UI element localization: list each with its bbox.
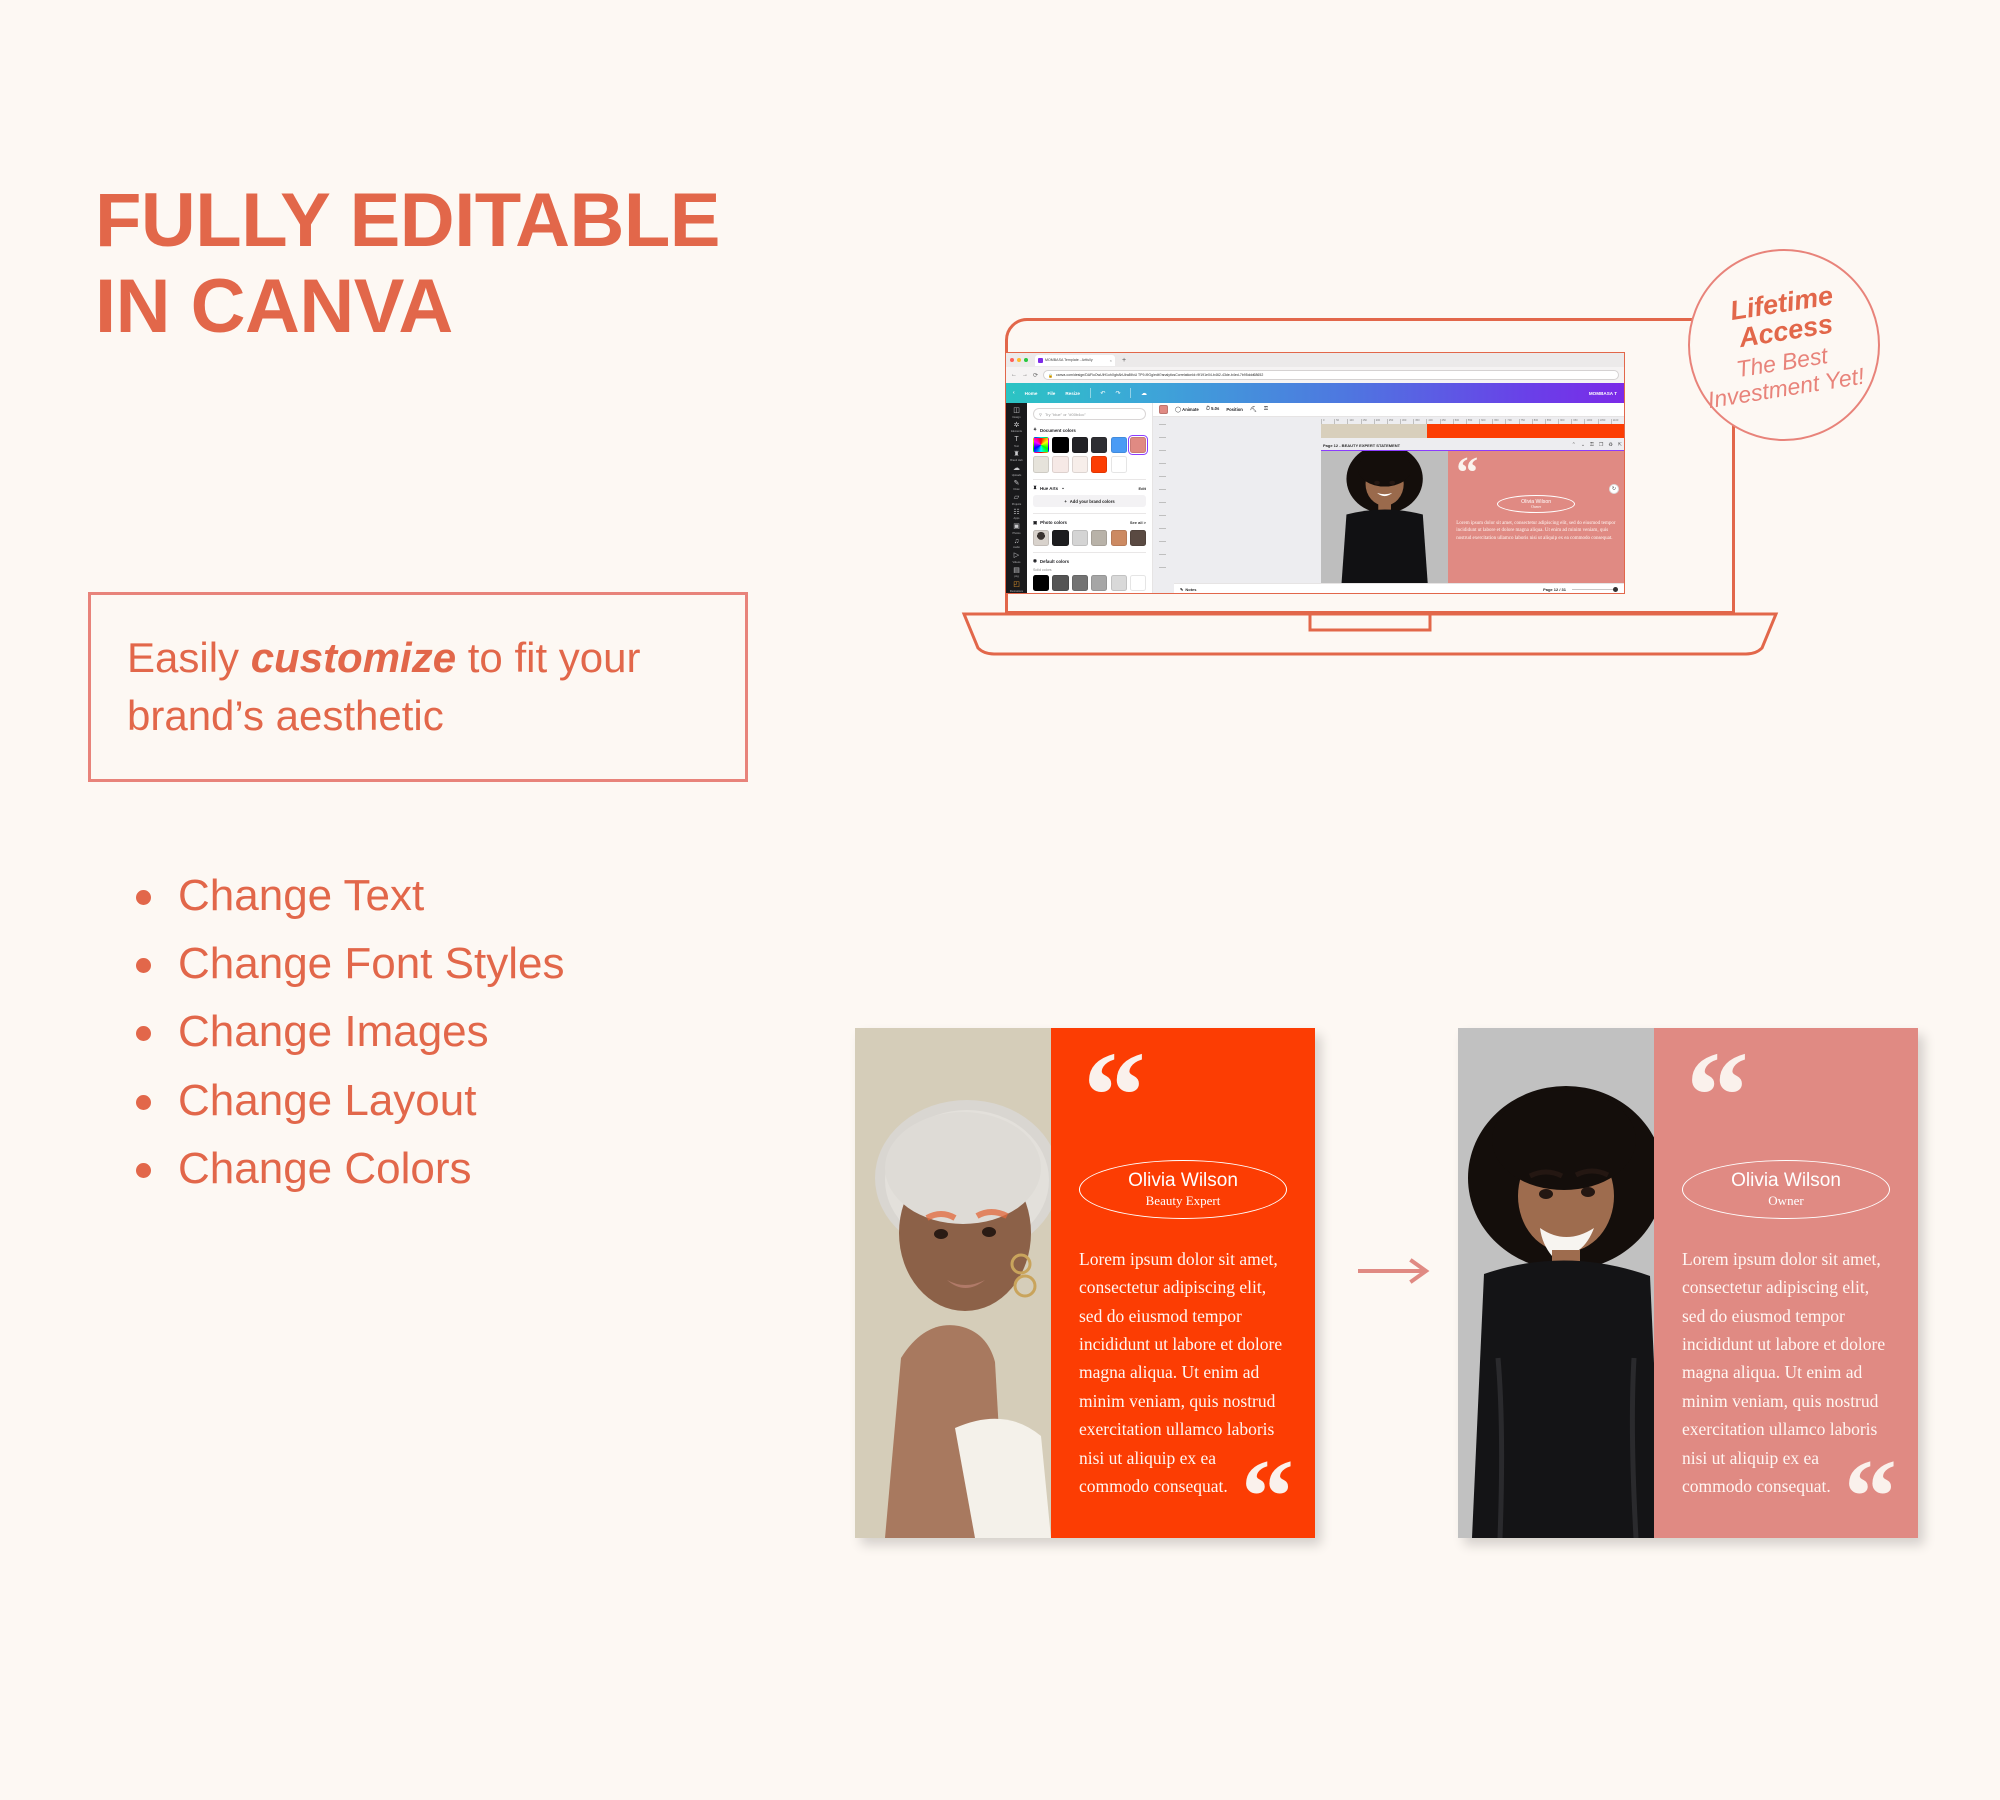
card-quote-after: “ Olivia Wilson Owner Lorem ipsum dolor … [1654,1028,1918,1538]
photo-thumbnail-swatch[interactable] [1033,530,1049,546]
new-tab-icon[interactable]: + [1122,357,1126,364]
vertical-ruler [1159,424,1166,594]
zoom-slider[interactable] [1572,589,1618,590]
color-swatch[interactable] [1111,456,1127,472]
clock-icon: ⏱ [1206,406,1210,412]
traffic-light-maximize-icon[interactable] [1024,358,1028,362]
color-swatch[interactable] [1111,530,1127,546]
sidebar-item-label: Text [1014,445,1019,448]
sidebar-item-illustrations[interactable]: ◰ Illustrations [1006,581,1027,593]
list-item: Change Layout [130,1067,564,1135]
divider [1033,552,1146,553]
page-count-label: Page 12 / 31 [1543,587,1566,592]
slide-quote-panel: “ Olivia Wilson Owner Lorem ipsum dolor … [1448,451,1624,594]
back-chevron-icon[interactable]: ‹ [1013,390,1015,396]
list-item: Change Text [130,862,564,930]
callout-text: Easily customize to fit your brand’s aes… [91,629,745,745]
default-colors-label: Default colors [1040,559,1069,564]
callout-box: Easily customize to fit your brand’s aes… [88,592,748,782]
color-swatch[interactable] [1072,575,1088,591]
notes-icon: ✎ [1180,587,1183,592]
ruler-tick [1159,437,1166,450]
ruler-tick [1159,502,1166,515]
horizontal-ruler: 0 50 100 150 200 250 300 350 400 450 500… [1321,417,1624,424]
author-name: Olivia Wilson [1683,1170,1889,1192]
sidebar-item-label: png [1014,575,1018,578]
author-badge: Olivia Wilson Owner [1497,495,1575,513]
card-photo-after [1458,1028,1654,1538]
color-swatch[interactable] [1130,575,1146,591]
ruler-tick [1159,424,1166,437]
sidebar-item-png[interactable]: ▤ png [1006,567,1027,579]
divider [1130,388,1131,398]
color-swatch-selected[interactable] [1130,437,1146,453]
sidebar-item-draw[interactable]: ✎ Draw [1006,480,1027,492]
color-swatch[interactable] [1052,530,1068,546]
animate-icon: ◯ [1175,407,1181,413]
solid-colors-label: Solid colors [1033,568,1146,572]
slide-canvas: FULLY EDITABLE IN CANVA Easily customize… [0,0,2000,1800]
brand-kit-label: Hue Arts [1040,486,1058,491]
sidebar-item-brand-hub[interactable]: ♜ Brand Hub [1006,451,1027,463]
canva-topbar: ‹ Home File Resize ↶ ↷ ☁ MOMBASA T [1006,383,1624,403]
move-down-icon[interactable]: ⌄ [1581,442,1585,448]
position-button[interactable]: Position [1226,407,1243,412]
testimonial-card-after: “ Olivia Wilson Owner Lorem ipsum dolor … [1458,1028,1918,1538]
divider [1033,479,1146,480]
colors-panel: ⚲ Try "blue" or "#00b4cc" ⚘ Document col… [1027,403,1153,594]
browser-tab[interactable]: MOMBASA Template - Artfully × [1035,355,1115,366]
lock-icon[interactable]: ⚿ [1590,442,1594,448]
ruler-tick [1159,541,1166,554]
search-placeholder: Try "blue" or "#00b4cc" [1045,412,1086,417]
portrait-young-woman [1458,1028,1654,1538]
browser-address-bar: ← → ⟳ 🔒 canva.com/design/DAFloOwUiH1ohXg… [1006,367,1624,383]
folder-icon: ▱ [1014,494,1019,502]
notes-button[interactable]: Notes [1185,587,1196,592]
url-text: canva.com/design/DAFloOwUiH1ohXgbAhUlra8… [1056,373,1263,377]
callout-emphasis: customize [251,634,456,681]
canva-statusbar: ✎ Notes Page 12 / 31 [1174,583,1624,594]
duration-button[interactable]: ⏱ 5.0s [1206,406,1220,413]
reload-icon[interactable]: ⟳ [1033,372,1038,379]
photo-colors-header: ▣ Photo colors See all > [1033,520,1146,526]
document-colors-swatches [1033,437,1146,473]
url-input[interactable]: 🔒 canva.com/design/DAFloOwUiH1ohXgbAhUlr… [1043,370,1619,380]
author-name: Olivia Wilson [1080,1170,1286,1192]
file-menu[interactable]: File [1047,391,1055,396]
layout-icon: ◫ [1013,407,1020,415]
portrait-older-woman [855,1028,1051,1538]
duplicate-icon[interactable]: ❐ [1599,442,1603,448]
apps-icon: ☷ [1013,509,1019,517]
previous-page-thumbnail[interactable] [1321,424,1624,438]
author-badge: Olivia Wilson Beauty Expert [1079,1160,1287,1219]
color-swatch[interactable] [1033,456,1049,472]
arrow-right-icon [1358,1258,1438,1284]
callout-before: Easily [127,634,251,681]
color-picker-swatch[interactable] [1033,437,1049,453]
color-swatch[interactable] [1052,456,1068,472]
undo-icon[interactable]: ↶ [1100,390,1105,397]
feature-list: Change Text Change Font Styles Change Im… [130,862,564,1203]
ruler-tick [1159,476,1166,489]
sidebar-item-label: Elements [1011,430,1022,433]
edit-button[interactable]: Edit [1138,486,1146,491]
animate-button[interactable]: ◯ Animate [1175,407,1199,413]
fill-color-button[interactable] [1159,405,1168,414]
page-scroll-strip[interactable]: Page 12 - BEAUTY EXPERT STATEMENT ⌃ ⌄ ⚿ … [1321,424,1624,594]
badge-subtitle: The Best Investment Yet! [1702,338,1866,414]
palette-icon: ⚘ [1033,427,1037,433]
ruler-tick [1159,554,1166,567]
quote-mark-bottom-icon: “ [1241,1464,1289,1530]
close-icon[interactable]: × [1110,358,1112,363]
quote-mark-icon: “ [1083,1058,1287,1136]
traffic-light-close-icon[interactable] [1010,358,1014,362]
sidebar-item-label: Illustrations [1010,590,1023,593]
move-up-icon[interactable]: ⌃ [1572,442,1576,448]
headline-line-2: IN CANVA [95,264,720,350]
document-name[interactable]: MOMBASA T [1589,391,1617,396]
color-swatch[interactable] [1091,437,1107,453]
sidebar-item-label: Photos [1012,532,1020,535]
sidebar-item-label: Audio [1013,546,1020,549]
sidebar-item-photos[interactable]: ▣ Photos [1006,523,1027,535]
sidebar-item-label: Apps [1014,517,1020,520]
chevron-down-icon[interactable]: ⌄ [1061,485,1065,491]
author-role: Owner [1498,505,1574,509]
sidebar-item-videos[interactable]: ▷ Videos [1006,552,1027,564]
add-brand-colors-button[interactable]: + Add your brand colors [1033,495,1146,507]
draw-icon: ✎ [1014,480,1020,488]
forward-icon[interactable]: → [1022,372,1028,378]
quote-mark-icon: “ [1686,1058,1890,1136]
document-colors-label: Document colors [1040,428,1076,433]
ruler-tick [1159,463,1166,476]
divider [1033,513,1146,514]
color-swatch[interactable] [1033,575,1049,591]
browser-tab-strip: MOMBASA Template - Artfully × + [1006,353,1624,367]
canva-canvas-area: ◯ Animate ⏱ 5.0s Position ⛏ ⚿ 0 50 100 1… [1153,403,1624,594]
headline-line-1: FULLY EDITABLE [95,178,720,264]
color-swatch[interactable] [1072,437,1088,453]
resize-button[interactable]: Resize [1065,391,1080,396]
canva-workspace: ◫ Design ✲ Elements T Text ♜ Brand Hub ☁ [1006,403,1624,594]
color-swatch[interactable] [1072,530,1088,546]
default-colors-icon: ◉ [1033,558,1037,564]
quote-mark-icon: “ [1456,457,1616,489]
sidebar-item-label: Uploads [1012,474,1022,477]
png-icon: ▤ [1013,567,1020,575]
ruler-tick [1159,528,1166,541]
ruler-tick [1159,489,1166,502]
search-input[interactable]: ⚲ Try "blue" or "#00b4cc" [1033,408,1146,420]
color-swatch[interactable] [1072,456,1088,472]
page-12-label: Page 12 - BEAUTY EXPERT STATEMENT [1323,443,1400,448]
sidebar-item-projects[interactable]: ▱ Projects [1006,494,1027,506]
list-item: Change Colors [130,1135,564,1203]
color-swatch[interactable] [1130,530,1146,546]
quote-mark-bottom-icon: “ [1844,1464,1892,1530]
document-colors-header: ⚘ Document colors [1033,427,1146,433]
page-title: FULLY EDITABLE IN CANVA [95,178,720,350]
transition-arrow [1358,1258,1438,1284]
canva-sidebar-rail: ◫ Design ✲ Elements T Text ♜ Brand Hub ☁ [1006,403,1027,594]
laptop-base [950,610,1790,660]
photo-colors-label: Photo colors [1040,520,1067,525]
sidebar-item-text[interactable]: T Text [1006,436,1027,448]
sidebar-item-design[interactable]: ◫ Design [1006,407,1027,419]
delete-icon[interactable]: ♻ [1608,442,1612,448]
default-colors-header: ◉ Default colors [1033,558,1146,564]
upload-icon: ☁ [1013,465,1020,473]
color-swatch[interactable] [1052,575,1068,591]
sidebar-item-label: Design [1012,416,1020,419]
color-swatch[interactable] [1111,575,1127,591]
slide-photo[interactable] [1321,451,1448,594]
ruler-tick [1159,450,1166,463]
refresh-icon[interactable]: ↻ [1609,484,1619,494]
previous-page-accent [1427,424,1624,438]
list-item: Change Images [130,998,564,1066]
list-item: Change Font Styles [130,930,564,998]
laptop-screen: MOMBASA Template - Artfully × + ← → ⟳ 🔒 … [1005,352,1625,594]
color-swatch[interactable] [1091,456,1107,472]
photo-colors-swatches [1033,530,1146,546]
add-brand-colors-label: Add your brand colors [1070,499,1115,504]
solid-colors-swatches [1033,575,1146,594]
page-12-header: Page 12 - BEAUTY EXPERT STATEMENT ⌃ ⌄ ⚿ … [1321,438,1624,451]
card-quote-before: “ Olivia Wilson Beauty Expert Lorem ipsu… [1051,1028,1315,1538]
slide-body-text: Lorem ipsum dolor sit amet, consectetur … [1456,520,1616,543]
plus-icon: + [1064,499,1066,504]
brand-icon: ♜ [1033,485,1037,491]
author-role: Owner [1683,1193,1889,1209]
audio-icon: ♫ [1014,538,1019,546]
elements-icon: ✲ [1014,422,1020,430]
color-swatch[interactable] [1091,530,1107,546]
brand-kit-header: ♜ Hue Arts ⌄ Edit [1033,485,1146,491]
lock-icon: 🔒 [1048,373,1053,378]
laptop-base-shape [950,610,1790,660]
search-icon: ⚲ [1039,412,1042,417]
color-swatch[interactable] [1111,437,1127,453]
sidebar-item-apps[interactable]: ☷ Apps [1006,509,1027,521]
illustration-icon: ◰ [1013,581,1020,589]
photo-icon: ▣ [1013,523,1020,531]
card-photo-before [855,1028,1051,1538]
sidebar-item-label: Brand Hub [1010,459,1022,462]
canva-favicon [1038,358,1043,363]
color-swatch[interactable] [1052,437,1068,453]
page-tools: ⌃ ⌄ ⚿ ❐ ♻ ⇱ [1572,442,1622,448]
home-button[interactable]: Home [1025,391,1038,396]
page-12-slide[interactable]: “ Olivia Wilson Owner Lorem ipsum dolor … [1321,451,1624,594]
author-badge: Olivia Wilson Owner [1682,1160,1890,1219]
animate-label: Animate [1182,407,1199,412]
see-all-link[interactable]: See all > [1130,520,1146,525]
portrait-young-woman [1321,451,1448,594]
cloud-save-icon[interactable]: ☁ [1141,390,1147,397]
sidebar-item-audio[interactable]: ♫ Audio [1006,538,1027,550]
text-icon: T [1014,436,1018,444]
ruler-tick [1159,567,1166,580]
brand-icon: ♜ [1013,451,1019,459]
traffic-light-minimize-icon[interactable] [1017,358,1021,362]
zoom-slider-handle[interactable] [1613,587,1618,592]
sidebar-item-elements[interactable]: ✲ Elements [1006,422,1027,434]
photo-icon: ▣ [1033,520,1037,526]
sidebar-item-label: Videos [1013,561,1021,564]
testimonial-card-before: “ Olivia Wilson Beauty Expert Lorem ipsu… [855,1028,1315,1538]
sidebar-item-uploads[interactable]: ☁ Uploads [1006,465,1027,477]
expand-icon[interactable]: ⇱ [1618,442,1622,448]
lock-icon[interactable]: ⚿ [1264,406,1268,413]
browser-tab-title: MOMBASA Template - Artfully [1045,358,1093,362]
sidebar-item-label: Draw [1013,488,1019,491]
duration-label: 5.0s [1211,406,1219,411]
ruler-tick [1159,515,1166,528]
color-swatch[interactable] [1091,575,1107,591]
element-toolbar: ◯ Animate ⏱ 5.0s Position ⛏ ⚿ [1153,403,1624,417]
video-icon: ▷ [1014,552,1019,560]
back-icon[interactable]: ← [1011,372,1017,378]
author-role: Beauty Expert [1080,1193,1286,1209]
transparency-icon[interactable]: ⛏ [1250,407,1257,413]
redo-icon[interactable]: ↷ [1115,390,1120,397]
sidebar-item-label: Projects [1012,503,1021,506]
divider [1090,388,1091,398]
lifetime-access-badge: Lifetime Access The Best Investment Yet! [1688,249,1880,441]
